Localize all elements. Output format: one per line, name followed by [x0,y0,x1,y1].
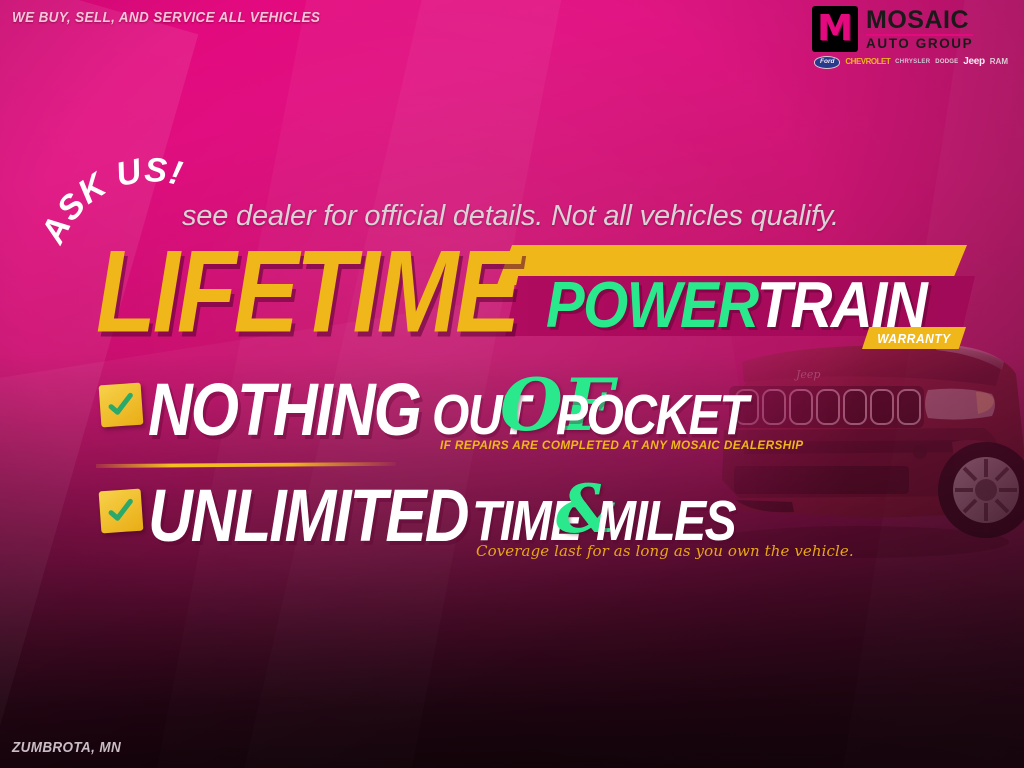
top-banner-text: WE BUY, SELL, AND SERVICE ALL VEHICLES [12,9,320,26]
checkbox-checked-icon [99,383,144,428]
logo-brand-name: MOSAIC [866,8,973,33]
headline-lifetime: LIFETIME [96,234,518,351]
checkbox-checked-icon [99,489,144,534]
benefit-row-nothing-out-of-pocket: NOTHING OUT OF POCKET IF REPAIRS ARE COM… [0,372,1024,458]
headline-power-word: POWER [546,269,757,342]
benefit-1-mid-b-text: POCKET [556,388,747,445]
benefit-1-fine-print: IF REPAIRS ARE COMPLETED AT ANY MOSAIC D… [440,438,804,452]
dealer-location-text: ZUMBROTA, MN [12,739,121,756]
benefit-1-bold-text: NOTHING [148,374,420,448]
oem-brand-strip: Ford CHEVROLET CHRYSLER DODGE Jeep RAM [812,56,1010,69]
logo-main-row: M MOSAIC AUTO GROUP [812,6,1010,52]
ford-logo-icon: Ford [814,56,840,69]
advertisement-canvas: Jeep [0,0,1024,768]
logo-brand-subtitle: AUTO GROUP [866,37,973,51]
benefit-row-unlimited-time-and-miles: UNLIMITED TIME & MILES Coverage last for… [0,478,1024,564]
dodge-logo-icon: DODGE [935,59,958,65]
benefit-2-bold-text: UNLIMITED [148,480,468,554]
chevrolet-logo-icon: CHEVROLET [845,58,890,66]
logo-wordmark: MOSAIC AUTO GROUP [866,8,973,51]
dealer-logo[interactable]: M MOSAIC AUTO GROUP Ford CHEVROLET CHRYS… [812,6,1010,69]
jeep-logo-icon: Jeep [963,57,985,67]
logo-m-letter: M [817,11,853,47]
warranty-chip: WARRANTY [862,327,966,349]
yellow-divider-line [96,462,396,468]
benefit-2-fine-print: Coverage last for as long as you own the… [476,542,854,560]
mosaic-m-mark-icon: M [812,6,858,52]
ram-logo-icon: RAM [990,58,1008,66]
warranty-chip-label: WARRANTY [877,331,951,346]
chrysler-logo-icon: CHRYSLER [895,59,930,65]
